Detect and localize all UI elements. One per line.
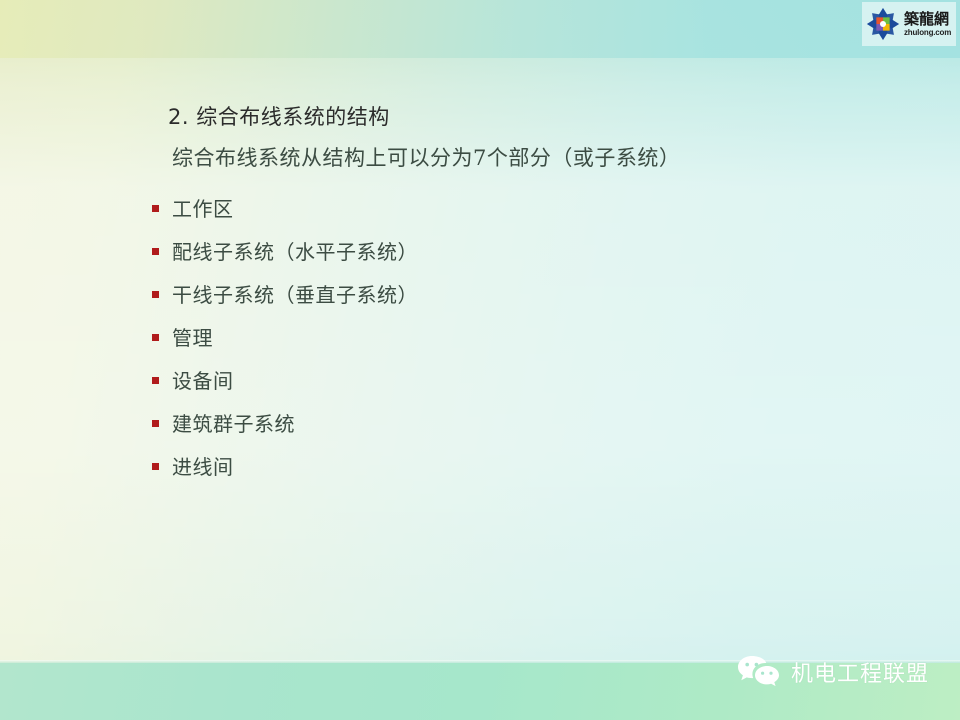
list-item: 管理 — [152, 315, 418, 358]
square-bullet-icon — [152, 377, 159, 384]
list-item: 进线间 — [152, 444, 418, 487]
square-bullet-icon — [152, 291, 159, 298]
list-item: 干线子系统（垂直子系统） — [152, 272, 418, 315]
square-bullet-icon — [152, 205, 159, 212]
footer-watermark: 机电工程联盟 — [736, 653, 929, 691]
presentation-slide: 築龍網 zhulong.com 2. 综合布线系统的结构 综合布线系统从结构上可… — [0, 0, 960, 720]
list-item-label: 配线子系统（水平子系统） — [172, 236, 418, 265]
list-item: 建筑群子系统 — [152, 401, 418, 444]
list-item-label: 建筑群子系统 — [172, 408, 295, 437]
page-title: 2. 综合布线系统的结构 — [168, 101, 390, 131]
list-item-label: 进线间 — [172, 451, 234, 480]
slide-content: 2. 综合布线系统的结构 综合布线系统从结构上可以分为7个部分（或子系统） 工作… — [0, 0, 960, 720]
wechat-icon — [736, 653, 782, 691]
list-item-label: 管理 — [172, 322, 213, 351]
square-bullet-icon — [152, 334, 159, 341]
bullet-list: 工作区 配线子系统（水平子系统） 干线子系统（垂直子系统） 管理 设备间 建筑群… — [152, 186, 418, 487]
list-item: 工作区 — [152, 186, 418, 229]
square-bullet-icon — [152, 420, 159, 427]
square-bullet-icon — [152, 463, 159, 470]
list-item: 设备间 — [152, 358, 418, 401]
watermark-label: 机电工程联盟 — [791, 656, 929, 688]
intro-paragraph: 综合布线系统从结构上可以分为7个部分（或子系统） — [172, 142, 680, 172]
square-bullet-icon — [152, 248, 159, 255]
list-item-label: 干线子系统（垂直子系统） — [172, 279, 418, 308]
list-item: 配线子系统（水平子系统） — [152, 229, 418, 272]
list-item-label: 设备间 — [172, 365, 234, 394]
list-item-label: 工作区 — [172, 193, 234, 222]
